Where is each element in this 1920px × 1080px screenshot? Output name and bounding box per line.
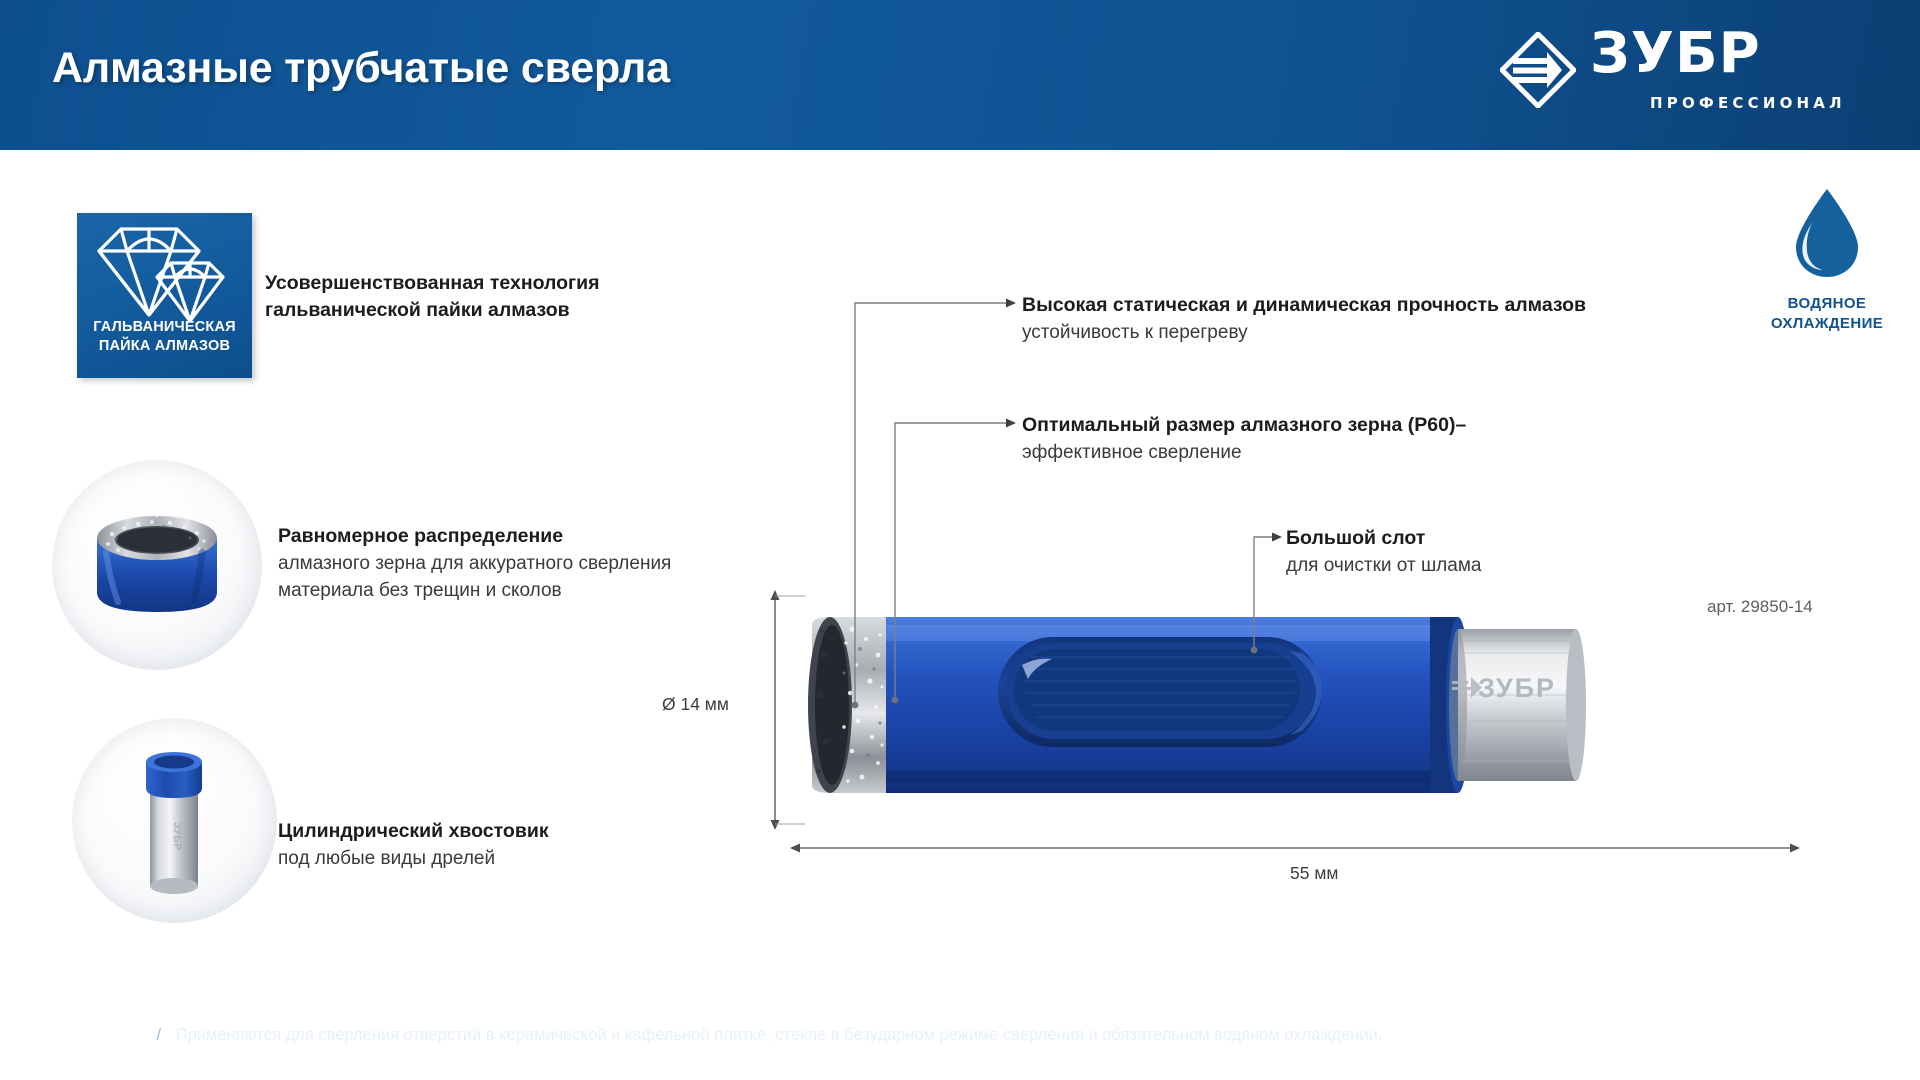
water-drop-icon: [1790, 185, 1864, 281]
feature-title: Цилиндрический хвостовик: [278, 818, 718, 845]
feature-desc: под любые виды дрелей: [278, 845, 718, 873]
feature-uniform-distribution: Равномерное распределение алмазного зерн…: [278, 523, 798, 605]
callout-desc: устойчивость к перегреву: [1022, 319, 1662, 347]
diameter-dimension-label: Ø 14 мм: [662, 694, 729, 715]
brand-subtitle: ПРОФЕССИОНАЛ: [1650, 94, 1846, 112]
footer-separator: /: [146, 1026, 171, 1044]
brand-name: ЗУБР: [1590, 26, 1761, 82]
length-dimension-label: 55 мм: [1290, 863, 1338, 884]
svg-text:ЗУБР: ЗУБР: [171, 822, 183, 851]
page-header: Алмазные трубчатые сверла ЗУБР ПРОФЕССИО…: [0, 0, 1920, 150]
footer-description: Применяются для сверления отверстий в ке…: [176, 1026, 1383, 1044]
product-drill-bit-image: ЗУБР: [790, 595, 1600, 835]
feature-desc-line1: алмазного зерна для аккуратного сверлени…: [278, 550, 798, 578]
zubr-arrow-diamond-icon: [1500, 32, 1576, 108]
feature-galvanic-technology: Усовершенствованная технология гальванич…: [265, 270, 685, 324]
feature-cylindrical-shank: Цилиндрический хвостовик под любые виды …: [278, 818, 718, 872]
callout-large-slot: Большой слот для очистки от шлама: [1286, 525, 1686, 580]
callout-desc: эффективное сверление: [1022, 439, 1542, 467]
water-caption-line1: ВОДЯНОЕ: [1742, 294, 1912, 314]
shank-engraved-logo: ЗУБР: [1478, 673, 1556, 703]
feature-desc-line2: материала без трещин и сколов: [278, 577, 798, 605]
brand-logo: ЗУБР ПРОФЕССИОНАЛ: [1500, 26, 1860, 126]
badge-caption-line2: ПАЙКА АЛМАЗОВ: [77, 337, 252, 356]
callout-title: Высокая статическая и динамическая прочн…: [1022, 292, 1662, 319]
feature-title-line2: гальванической пайки алмазов: [265, 297, 685, 324]
galvanic-soldering-badge: ГАЛЬВАНИЧЕСКАЯ ПАЙКА АЛМАЗОВ: [77, 213, 252, 378]
diamond-gem-icon: [91, 221, 239, 329]
article-number: арт. 29850-14: [1707, 597, 1813, 617]
badge-caption-line1: ГАЛЬВАНИЧЕСКАЯ: [77, 318, 252, 337]
footer-content: www.zubr.ru / Применяются для сверления …: [52, 1026, 1382, 1045]
callout-title: Большой слот: [1286, 525, 1686, 552]
callout-grain-size: Оптимальный размер алмазного зерна (Р60)…: [1022, 412, 1542, 467]
callout-diamond-strength: Высокая статическая и динамическая прочн…: [1022, 292, 1662, 347]
feature-title: Равномерное распределение: [278, 523, 798, 550]
callout-title: Оптимальный размер алмазного зерна (Р60)…: [1022, 412, 1542, 439]
callout-desc: для очистки от шлама: [1286, 552, 1686, 580]
badge-caption: ГАЛЬВАНИЧЕСКАЯ ПАЙКА АЛМАЗОВ: [77, 318, 252, 356]
water-caption-line2: ОХЛАЖДЕНИЕ: [1742, 314, 1912, 334]
water-cooling-caption: ВОДЯНОЕ ОХЛАЖДЕНИЕ: [1742, 294, 1912, 333]
footer-website-link[interactable]: www.zubr.ru: [52, 1026, 142, 1044]
drill-tip-photo: [52, 460, 262, 670]
infographic-page: Алмазные трубчатые сверла ЗУБР ПРОФЕССИО…: [0, 0, 1920, 1080]
page-footer: www.zubr.ru / Применяются для сверления …: [0, 998, 1920, 1080]
page-title: Алмазные трубчатые сверла: [52, 44, 670, 93]
drill-shank-photo: ЗУБР: [72, 718, 277, 923]
feature-title-line1: Усовершенствованная технология: [265, 270, 685, 297]
water-cooling-block: ВОДЯНОЕ ОХЛАЖДЕНИЕ: [1742, 185, 1912, 333]
